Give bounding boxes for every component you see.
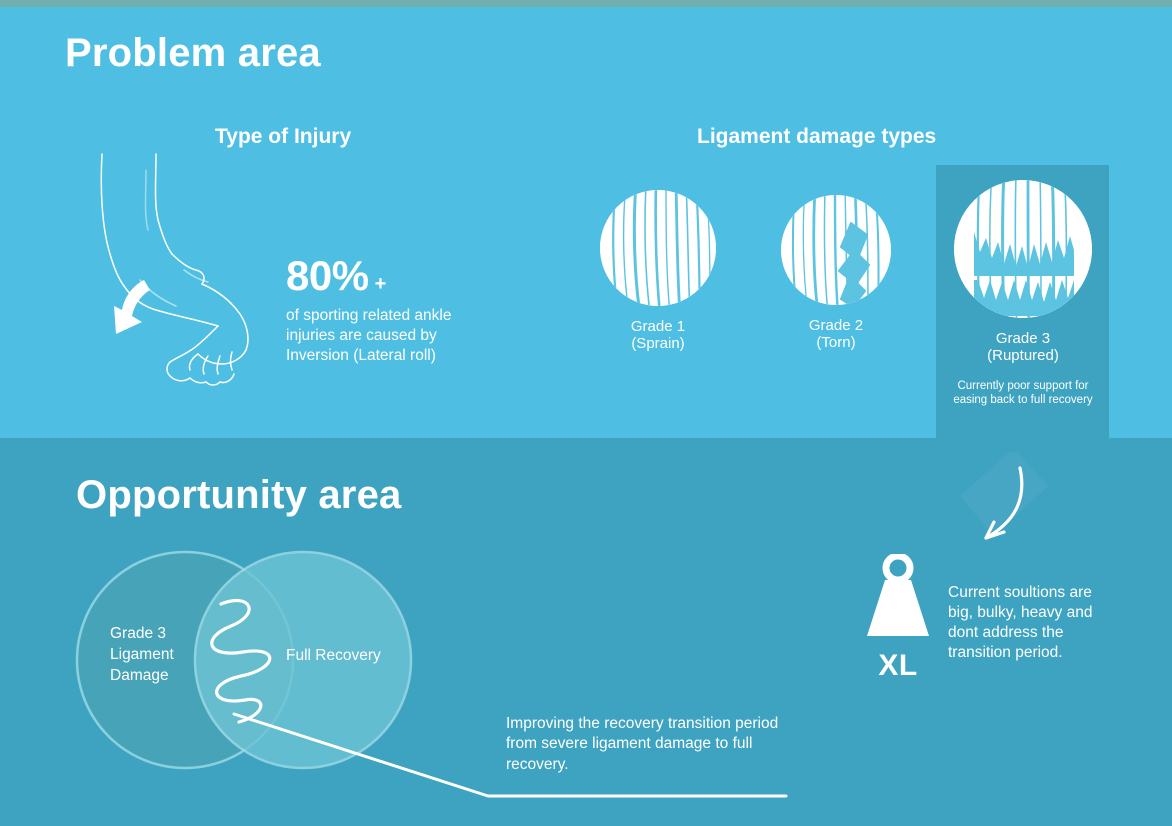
current-solutions-weight: XL: [855, 554, 941, 683]
venn-left-label: Grade 3 Ligament Damage: [110, 624, 174, 687]
curved-down-arrow-icon: [936, 452, 1056, 562]
ligament-grade-2-label: Grade 2 (Torn): [770, 318, 902, 352]
ligament-ruptured-icon: [954, 180, 1092, 318]
weight-size-label: XL: [855, 649, 941, 683]
opportunity-callout-caption: Improving the recovery transition period…: [506, 714, 786, 775]
opportunity-area-title: Opportunity area: [76, 473, 401, 518]
ligament-grade-3-label: Grade 3 (Ruptured): [950, 331, 1096, 365]
ligament-intact-icon: [600, 190, 716, 306]
ligament-grade-2[interactable]: Grade 2 (Torn): [770, 195, 902, 352]
injury-stat-number: 80%: [286, 255, 369, 297]
current-solutions-caption: Current soultions are big, bulky, heavy …: [948, 583, 1116, 664]
ankle-inversion-illustration: [80, 150, 280, 400]
top-accent-strip: [0, 0, 1172, 7]
ligament-torn-icon: [781, 195, 891, 305]
type-of-injury-subtitle: Type of Injury: [215, 125, 351, 149]
venn-right-label: Full Recovery: [286, 646, 381, 667]
ligament-damage-types-subtitle: Ligament damage types: [697, 125, 936, 149]
injury-stat-caption: of sporting related ankle injuries are c…: [286, 306, 481, 365]
weight-icon: [855, 554, 941, 640]
infographic-poster: Problem area Type of Injury Ligament dam…: [0, 0, 1172, 826]
ligament-grade-3[interactable]: Grade 3 (Ruptured) Currently poor suppor…: [950, 180, 1096, 407]
ligament-grade-1[interactable]: Grade 1 (Sprain): [583, 190, 733, 353]
injury-statistic: 80% + of sporting related ankle injuries…: [286, 255, 486, 365]
problem-area-title: Problem area: [65, 31, 321, 76]
injury-stat-plus: +: [375, 274, 387, 294]
ligament-grade-3-note: Currently poor support for easing back t…: [950, 379, 1096, 408]
ligament-grade-1-label: Grade 1 (Sprain): [583, 319, 733, 353]
inversion-arrow-icon: [114, 280, 150, 334]
